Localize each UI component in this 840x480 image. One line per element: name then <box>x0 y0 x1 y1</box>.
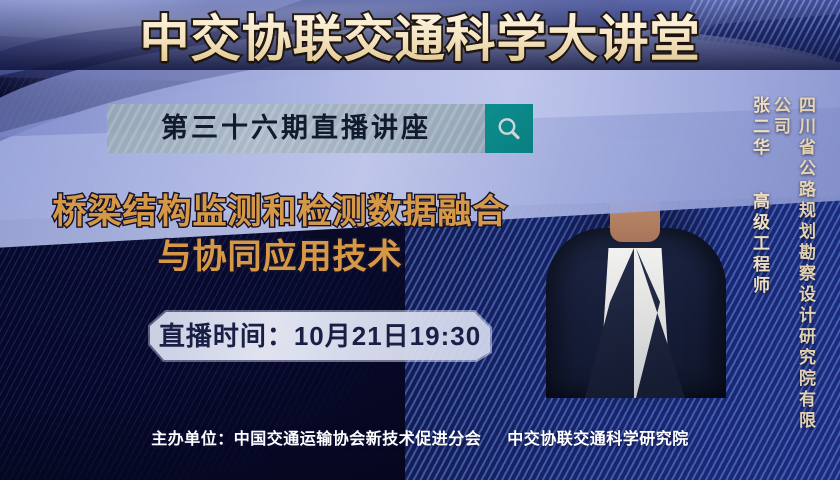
footer-org-2: 中交协联交通科学研究院 <box>507 431 689 448</box>
main-title: 中交协联交通科学大讲堂 <box>0 14 840 64</box>
episode-banner-label: 第三十六期直播讲座 <box>107 104 485 153</box>
footer-org-1: 中国交通运输协会新技术促进分会 <box>234 431 482 448</box>
search-icon <box>495 115 523 143</box>
portrait-eye-right <box>647 146 667 154</box>
topic-line-1: 桥梁结构监测和检测数据融合 <box>53 193 508 231</box>
speaker-portrait <box>540 58 730 398</box>
live-lecture-poster: 中交协联交通科学大讲堂 中交协联交通科学大讲堂 第三十六期直播讲座 桥梁结构监测… <box>0 0 840 480</box>
speaker-company: 四川省公路规划勘察设计研究院有限公司 <box>768 96 818 436</box>
portrait-hair <box>583 74 687 140</box>
portrait-nose <box>630 156 640 176</box>
topic-line-2: 与协同应用技术 <box>20 235 540 280</box>
footer-organizers: 主办单位：中国交通运输协会新技术促进分会中交协联交通科学研究院 <box>0 425 840 449</box>
topic-title-outline: 桥梁结构监测和检测数据融合 与协同应用技术 <box>20 190 540 280</box>
portrait-eye-left <box>603 146 623 154</box>
portrait-mouth <box>621 182 649 189</box>
schedule-text: 直播时间：10月21日19:30 <box>150 312 490 360</box>
footer-prefix: 主办单位： <box>151 431 234 448</box>
episode-banner[interactable]: 第三十六期直播讲座 <box>107 104 485 153</box>
search-button[interactable] <box>485 104 533 153</box>
